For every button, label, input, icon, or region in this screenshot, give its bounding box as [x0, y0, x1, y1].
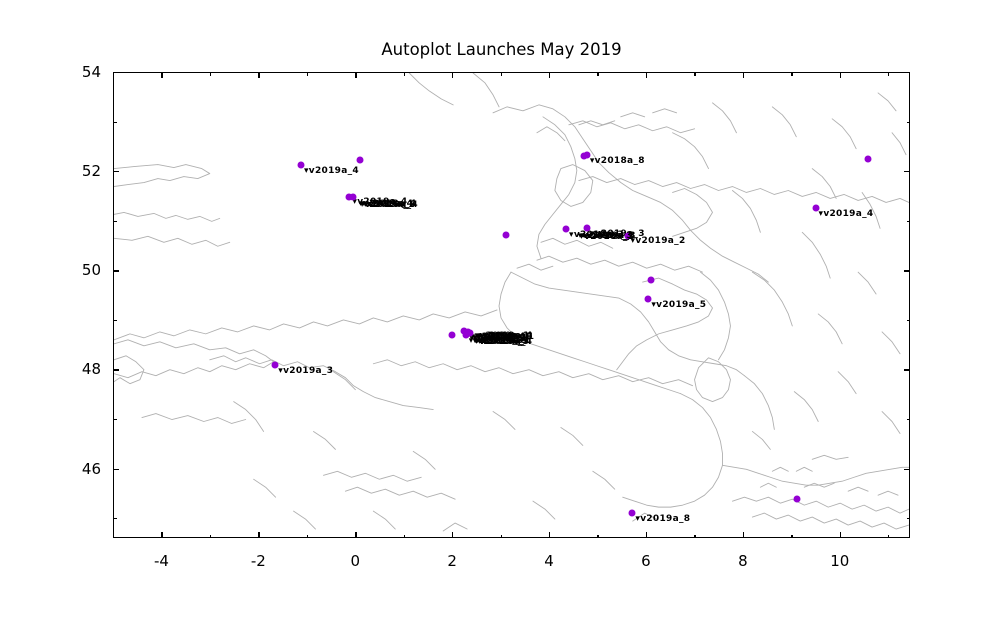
- x-tick-minor: [694, 535, 695, 539]
- data-point-label: ▾v2019a_5: [651, 300, 706, 310]
- x-tick-label: 6: [641, 552, 651, 570]
- x-tick-minor-top: [888, 72, 889, 76]
- y-tick-minor: [113, 320, 117, 321]
- map-plot-area[interactable]: [113, 72, 910, 538]
- y-tick-major-right: [904, 369, 910, 370]
- y-tick-major: [113, 469, 119, 470]
- x-tick-major: [646, 532, 647, 538]
- x-tick-minor: [597, 535, 598, 539]
- x-tick-minor-top: [694, 72, 695, 76]
- x-tick-minor-top: [210, 72, 211, 76]
- x-tick-major: [743, 532, 744, 538]
- x-tick-major: [258, 532, 259, 538]
- data-point-marker[interactable]: [349, 194, 356, 201]
- y-tick-major-right: [904, 270, 910, 271]
- x-tick-minor-top: [501, 72, 502, 76]
- y-tick-minor-right: [907, 320, 911, 321]
- x-tick-minor-top: [404, 72, 405, 76]
- data-point-marker[interactable]: [356, 157, 363, 164]
- x-tick-label: 10: [830, 552, 849, 570]
- y-tick-major-right: [904, 469, 910, 470]
- x-tick-label: 8: [738, 552, 748, 570]
- x-tick-minor: [307, 535, 308, 539]
- x-tick-major-top: [743, 72, 744, 78]
- x-tick-label: -4: [154, 552, 169, 570]
- y-tick-major: [113, 72, 119, 73]
- y-tick-label: 54: [82, 63, 101, 81]
- data-point-label-overlapping: ▾v2019a_4: [477, 337, 532, 347]
- y-tick-minor-right: [907, 221, 911, 222]
- y-tick-major-right: [904, 171, 910, 172]
- y-tick-minor: [113, 221, 117, 222]
- data-point-label: ▾v2019a_8: [635, 514, 690, 524]
- x-tick-minor: [501, 535, 502, 539]
- x-tick-major: [840, 532, 841, 538]
- x-tick-minor: [888, 535, 889, 539]
- y-tick-label: 52: [82, 162, 101, 180]
- x-tick-minor-top: [791, 72, 792, 76]
- page-title: Autoplot Launches May 2019: [0, 40, 1003, 59]
- x-tick-major: [355, 532, 356, 538]
- y-tick-minor-right: [907, 518, 911, 519]
- data-point-label: ▾v2018a_8: [590, 156, 645, 166]
- x-tick-major-top: [258, 72, 259, 78]
- x-tick-minor: [113, 535, 114, 539]
- data-point-marker[interactable]: [647, 277, 654, 284]
- y-tick-major: [113, 369, 119, 370]
- data-point-label: ▾v2019a_4: [819, 209, 874, 219]
- y-axis-labels: 4648505254: [0, 0, 101, 633]
- x-tick-major-top: [355, 72, 356, 78]
- y-tick-minor: [113, 518, 117, 519]
- x-tick-label: 0: [350, 552, 360, 570]
- x-tick-label: -2: [251, 552, 266, 570]
- y-tick-minor-right: [907, 122, 911, 123]
- x-tick-major: [452, 532, 453, 538]
- x-tick-minor-top: [597, 72, 598, 76]
- y-tick-minor: [113, 419, 117, 420]
- y-tick-label: 46: [82, 460, 101, 478]
- y-tick-minor: [113, 122, 117, 123]
- y-tick-minor-right: [907, 419, 911, 420]
- y-tick-label: 48: [82, 360, 101, 378]
- x-tick-minor: [791, 535, 792, 539]
- data-point-marker[interactable]: [449, 331, 456, 338]
- data-point-marker[interactable]: [794, 496, 801, 503]
- data-point-marker[interactable]: [580, 153, 587, 160]
- data-point-marker[interactable]: [503, 231, 510, 238]
- figure-canvas: Autoplot Launches May 2019: [0, 0, 1003, 633]
- x-tick-major-top: [646, 72, 647, 78]
- x-tick-major-top: [549, 72, 550, 78]
- y-tick-label: 50: [82, 261, 101, 279]
- data-point-label-overlapping: ▾v2019a_4: [363, 200, 418, 210]
- x-tick-label: 2: [447, 552, 457, 570]
- x-tick-minor: [404, 535, 405, 539]
- y-tick-major-right: [904, 72, 910, 73]
- x-tick-major-top: [840, 72, 841, 78]
- x-tick-major-top: [452, 72, 453, 78]
- data-point-marker[interactable]: [864, 155, 871, 162]
- data-point-label-overlapping: ▾v2019a_3: [581, 231, 636, 241]
- data-point-label: ▾v2019a_4: [304, 166, 359, 176]
- x-tick-major: [161, 532, 162, 538]
- y-tick-major: [113, 270, 119, 271]
- y-tick-major: [113, 171, 119, 172]
- x-tick-major: [549, 532, 550, 538]
- x-tick-minor: [210, 535, 211, 539]
- data-point-label: ▾v2019a_3: [278, 366, 333, 376]
- data-point-label: ▾v2019a_2: [631, 236, 686, 246]
- x-tick-major-top: [161, 72, 162, 78]
- x-tick-label: 4: [544, 552, 554, 570]
- coastline-map: [114, 73, 909, 537]
- x-tick-minor-top: [307, 72, 308, 76]
